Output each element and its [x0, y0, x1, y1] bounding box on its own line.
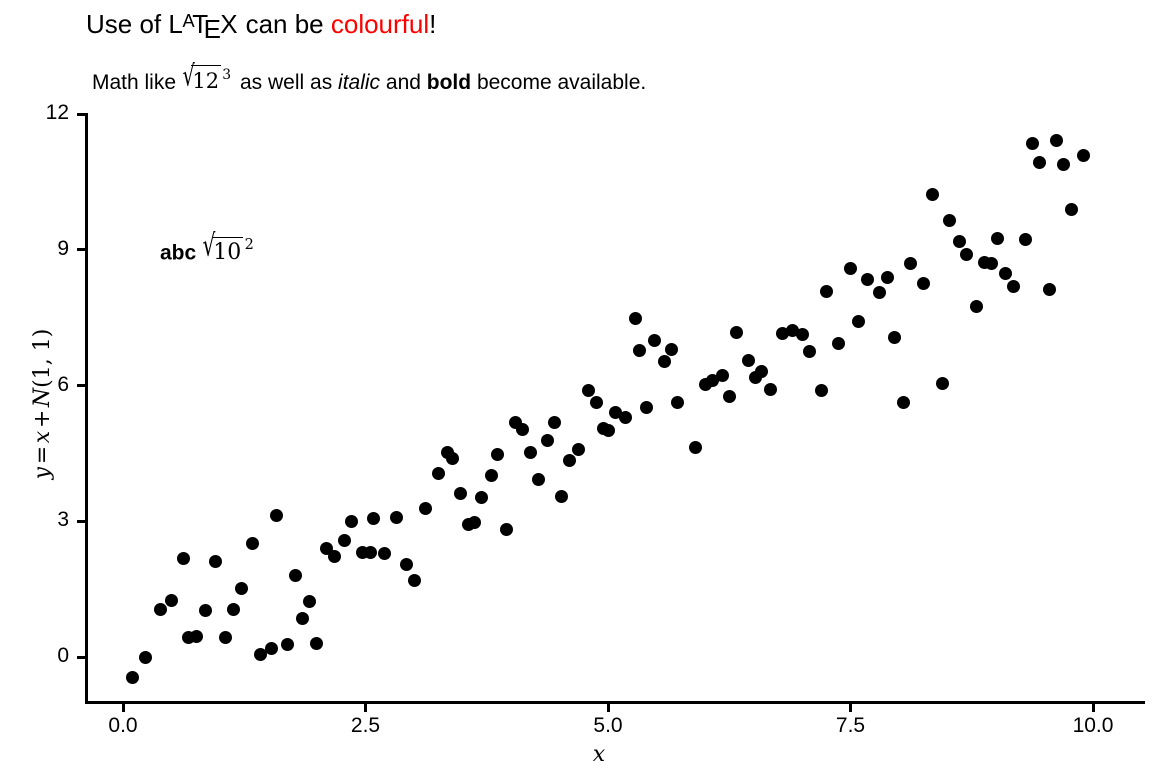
scatter-point: [1050, 134, 1063, 147]
scatter-point: [590, 396, 603, 409]
scatter-point: [265, 642, 278, 655]
scatter-point: [165, 594, 178, 607]
scatter-point: [861, 273, 874, 286]
scatter-point: [844, 262, 857, 275]
scatter-point: [665, 343, 678, 356]
scatter-point: [873, 286, 886, 299]
scatter-point: [1057, 158, 1070, 171]
scatter-point: [991, 232, 1004, 245]
scatter-point: [491, 448, 504, 461]
scatter-point: [764, 383, 777, 396]
scatter-point: [619, 411, 632, 424]
scatter-point: [602, 424, 615, 437]
scatter-point: [219, 631, 232, 644]
scatter-point: [454, 487, 467, 500]
scatter-point: [235, 582, 248, 595]
y-axis-title: y=x+N(1, 1): [29, 104, 55, 704]
scatter-point: [985, 257, 998, 270]
scatter-point: [270, 509, 283, 522]
scatter-point: [742, 354, 755, 367]
scatter-point: [897, 396, 910, 409]
scatter-point: [177, 552, 190, 565]
plot-annotation: abc √102: [160, 238, 257, 265]
scatter-point: [154, 603, 167, 616]
scatter-point: [289, 569, 302, 582]
scatter-point: [555, 490, 568, 503]
scatter-point: [400, 558, 413, 571]
scatter-point: [500, 523, 513, 536]
scatter-point: [1043, 283, 1056, 296]
scatter-point: [917, 277, 930, 290]
scatter-point: [716, 369, 729, 382]
scatter-point: [563, 454, 576, 467]
scatter-point: [648, 334, 661, 347]
radicand-value: 10: [212, 237, 244, 264]
scatter-point: [730, 326, 743, 339]
scatter-point: [572, 443, 585, 456]
scatter-point: [303, 595, 316, 608]
scatter-point: [689, 441, 702, 454]
scatter-point: [1077, 149, 1090, 162]
scatter-point: [960, 248, 973, 261]
scatter-point: [936, 377, 949, 390]
scatter-point: [432, 467, 445, 480]
scatter-point: [815, 384, 828, 397]
scatter-point: [419, 502, 432, 515]
scatter-point: [755, 365, 768, 378]
scatter-point: [796, 328, 809, 341]
scatter-point: [881, 271, 894, 284]
scatter-point: [671, 396, 684, 409]
scatter-point: [516, 423, 529, 436]
figure-root: Use of LATEX can be colourful! Math like…: [0, 0, 1152, 768]
scatter-point: [904, 257, 917, 270]
scatter-point: [281, 638, 294, 651]
sqrt-10-expression: √102: [202, 238, 257, 265]
scatter-point: [468, 516, 481, 529]
scatter-point: [246, 537, 259, 550]
scatter-point: [803, 345, 816, 358]
scatter-point: [532, 473, 545, 486]
scatter-point: [953, 235, 966, 248]
scatter-point: [548, 416, 561, 429]
exponent-value: 2: [245, 237, 254, 253]
scatter-point: [629, 312, 642, 325]
scatter-point: [999, 267, 1012, 280]
scatter-point: [1007, 280, 1020, 293]
scatter-point: [367, 512, 380, 525]
scatter-point: [832, 337, 845, 350]
scatter-point: [390, 511, 403, 524]
scatter-point: [408, 574, 421, 587]
scatter-point: [378, 547, 391, 560]
scatter-point: [633, 344, 646, 357]
scatter-point: [1026, 137, 1039, 150]
scatter-point: [723, 390, 736, 403]
scatter-point: [190, 630, 203, 643]
annotation-bold-text: abc: [160, 241, 196, 264]
scatter-point: [1033, 156, 1046, 169]
scatter-point: [296, 612, 309, 625]
scatter-point: [541, 434, 554, 447]
scatter-point: [820, 285, 833, 298]
scatter-plot: 036912 0.02.55.07.510.0 abc √102 x y=x+N…: [0, 0, 1152, 768]
y-axis-title-label: y=x+N(1, 1): [30, 329, 55, 480]
scatter-point: [310, 637, 323, 650]
scatter-point: [1065, 203, 1078, 216]
scatter-point: [446, 452, 459, 465]
scatter-point: [227, 603, 240, 616]
scatter-point: [364, 546, 377, 559]
scatter-point: [926, 188, 939, 201]
scatter-point: [888, 331, 901, 344]
scatter-point: [1019, 233, 1032, 246]
scatter-point: [139, 651, 152, 664]
scatter-point: [475, 491, 488, 504]
scatter-point: [658, 355, 671, 368]
scatter-point: [524, 446, 537, 459]
scatter-point: [328, 550, 341, 563]
scatter-point: [485, 469, 498, 482]
scatter-point: [199, 604, 212, 617]
x-axis-title-label: x: [593, 742, 605, 767]
scatter-point: [345, 515, 358, 528]
scatter-point: [970, 300, 983, 313]
scatter-point: [852, 315, 865, 328]
scatter-point: [943, 214, 956, 227]
scatter-point: [338, 534, 351, 547]
data-points-layer: [0, 0, 1152, 768]
scatter-point: [209, 555, 222, 568]
scatter-point: [640, 401, 653, 414]
x-axis-title: x: [0, 741, 1152, 767]
scatter-point: [126, 671, 139, 684]
